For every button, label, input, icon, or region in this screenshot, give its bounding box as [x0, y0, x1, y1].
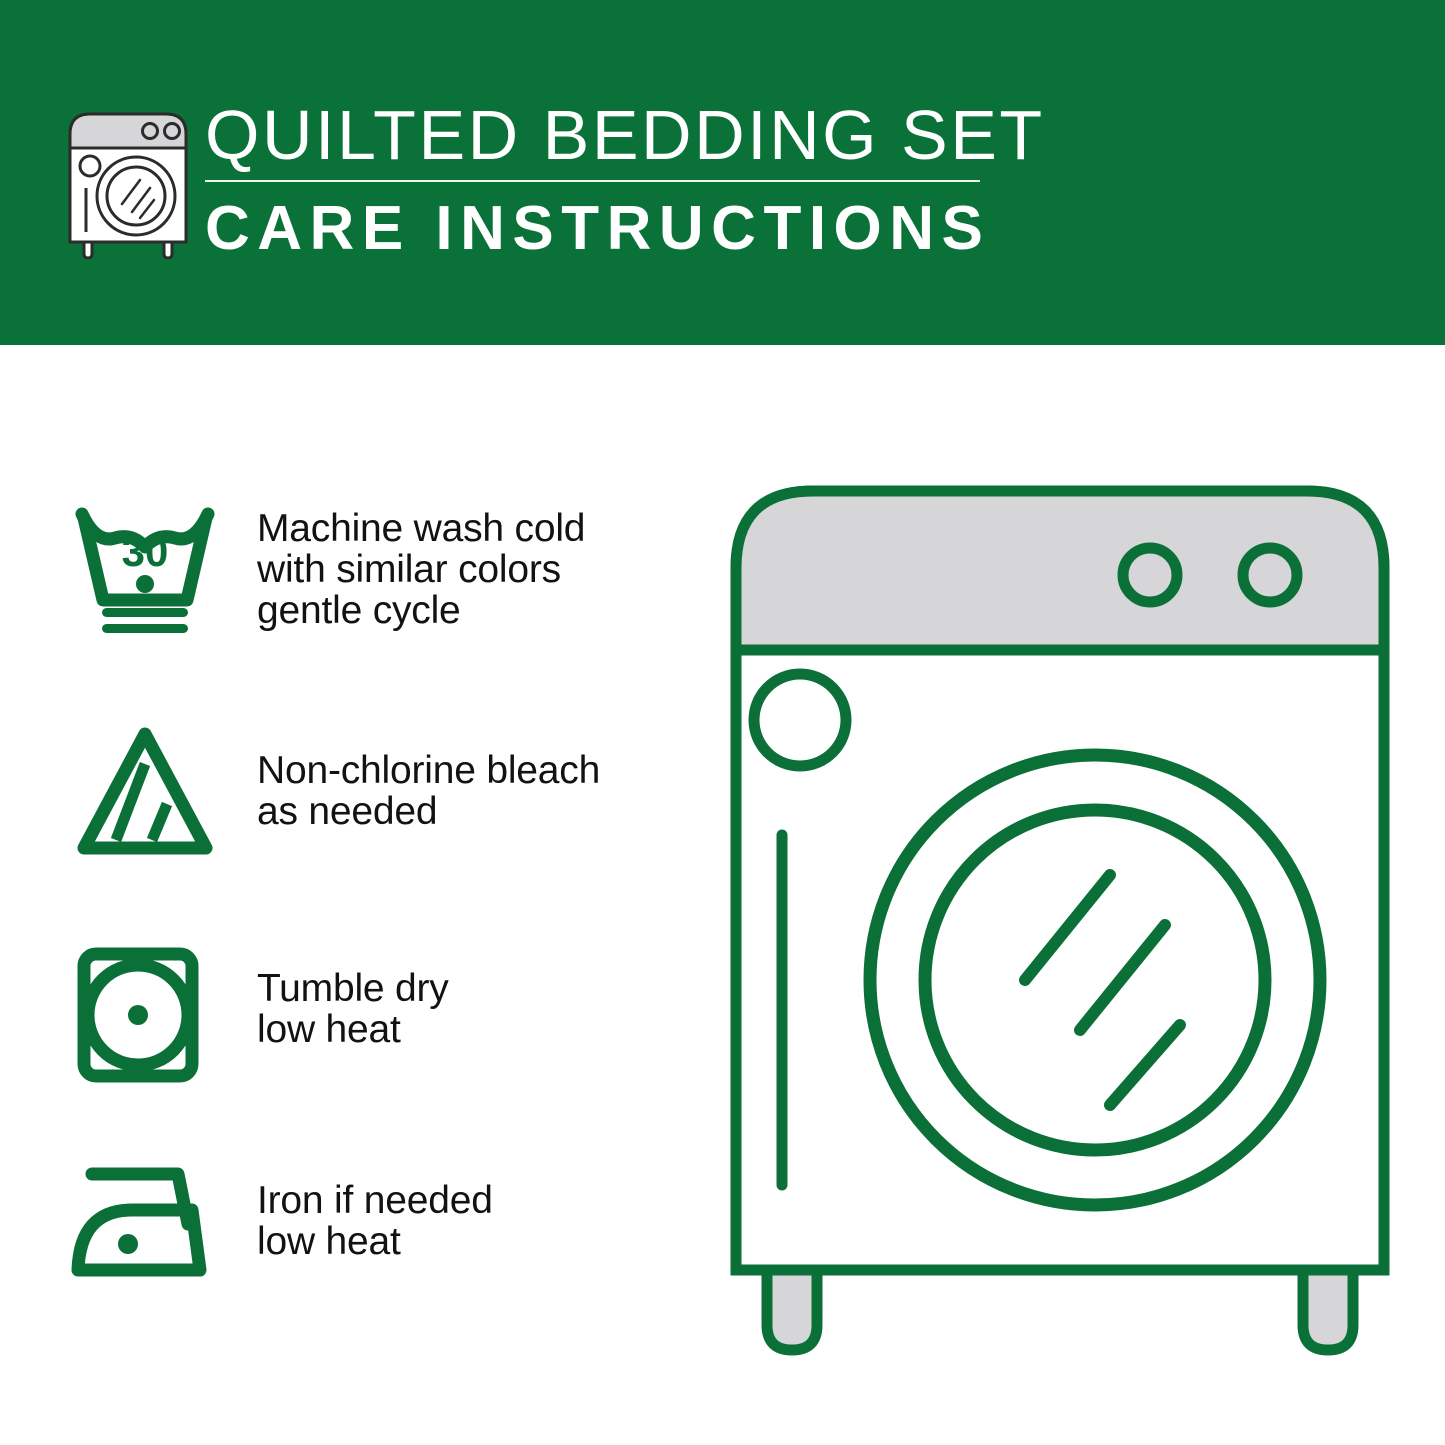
- header-banner: QUILTED BEDDING SET CARE INSTRUCTIONS: [0, 0, 1445, 345]
- header-title-group: QUILTED BEDDING SET CARE INSTRUCTIONS: [205, 96, 995, 262]
- iron-low-heat-icon: [70, 1152, 235, 1290]
- title-divider: [205, 180, 980, 182]
- care-text-machine-wash: Machine wash cold with similar colors ge…: [257, 508, 585, 631]
- care-row-tumble-dry: Tumble dry low heat: [70, 946, 690, 1084]
- tumble-dry-low-icon: [70, 946, 235, 1084]
- front-load-washing-machine-illustration: [725, 480, 1395, 1360]
- care-row-machine-wash: 30 Machine wash cold with similar colors…: [70, 500, 690, 638]
- washing-machine-icon: [62, 104, 194, 259]
- care-text-tumble-dry: Tumble dry low heat: [257, 968, 449, 1050]
- page-title: QUILTED BEDDING SET: [205, 96, 995, 174]
- page-subtitle: CARE INSTRUCTIONS: [205, 196, 995, 262]
- care-instructions-infographic: QUILTED BEDDING SET CARE INSTRUCTIONS 30…: [0, 0, 1445, 1445]
- care-row-bleach: Non-chlorine bleach as needed: [70, 722, 690, 860]
- non-chlorine-bleach-triangle-icon: [70, 722, 235, 860]
- care-text-bleach: Non-chlorine bleach as needed: [257, 750, 600, 832]
- care-text-iron: Iron if needed low heat: [257, 1180, 493, 1262]
- machine-wash-30-icon: 30: [70, 500, 235, 638]
- svg-text:30: 30: [122, 528, 169, 575]
- care-row-iron: Iron if needed low heat: [70, 1152, 690, 1290]
